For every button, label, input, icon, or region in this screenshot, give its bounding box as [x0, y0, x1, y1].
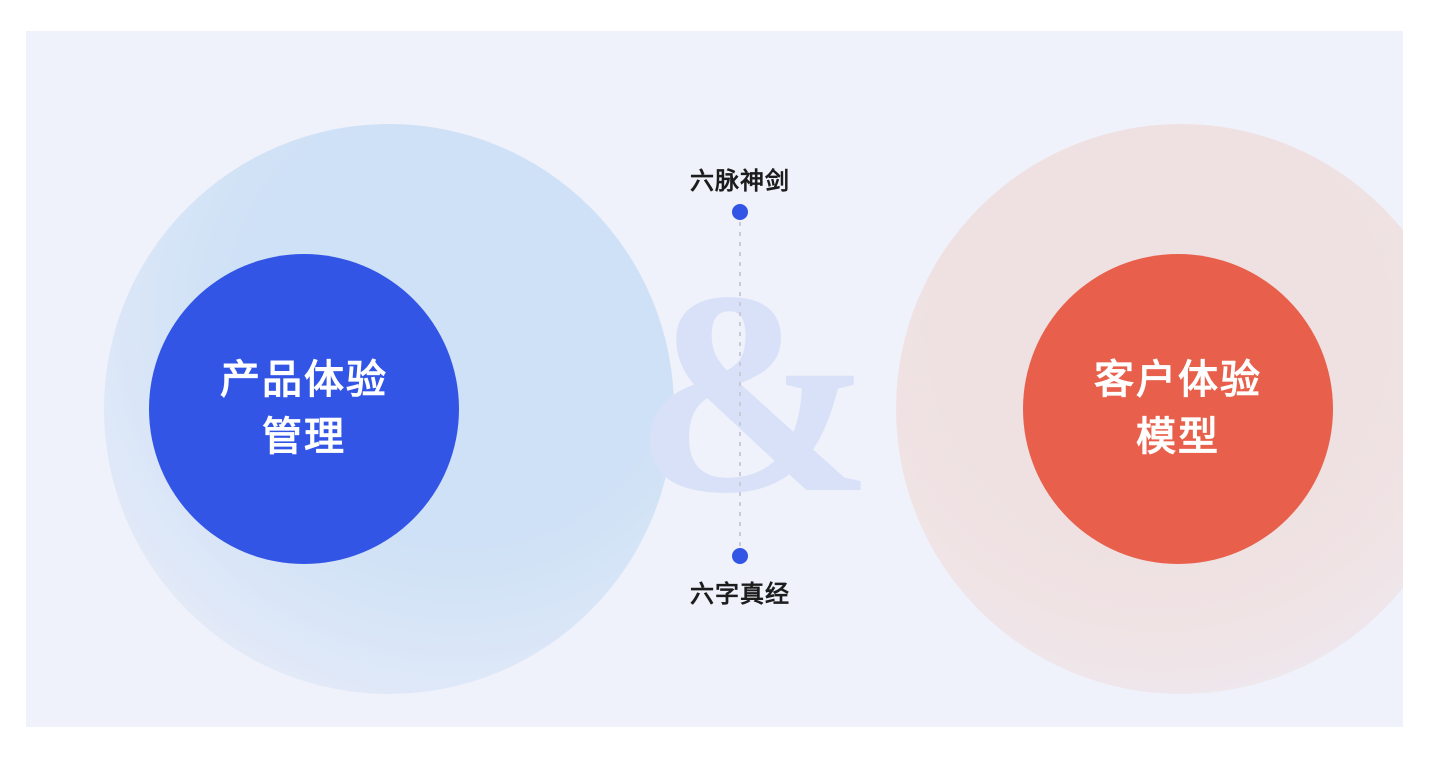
- left-node-title-line-1: 产品体验: [220, 352, 388, 409]
- right-node-title-line-1: 客户体验: [1094, 352, 1262, 409]
- axis-top-dot[interactable]: [732, 204, 748, 220]
- axis-top-label: 六脉神剑: [690, 161, 790, 196]
- axis-dashed-connector: [739, 212, 741, 556]
- diagram-canvas: 产品体验 管理 客户体验 模型 & 六脉神剑 六字真经: [0, 0, 1430, 776]
- diagram-panel: 产品体验 管理 客户体验 模型 & 六脉神剑 六字真经: [26, 31, 1403, 727]
- right-node-circle[interactable]: 客户体验 模型: [1023, 254, 1333, 564]
- ampersand-icon: &: [633, 248, 875, 538]
- axis-bottom-dot[interactable]: [732, 548, 748, 564]
- left-node-title-line-2: 管理: [262, 409, 346, 466]
- right-node-title-line-2: 模型: [1136, 409, 1220, 466]
- left-node-circle[interactable]: 产品体验 管理: [149, 254, 459, 564]
- axis-bottom-label: 六字真经: [690, 574, 790, 609]
